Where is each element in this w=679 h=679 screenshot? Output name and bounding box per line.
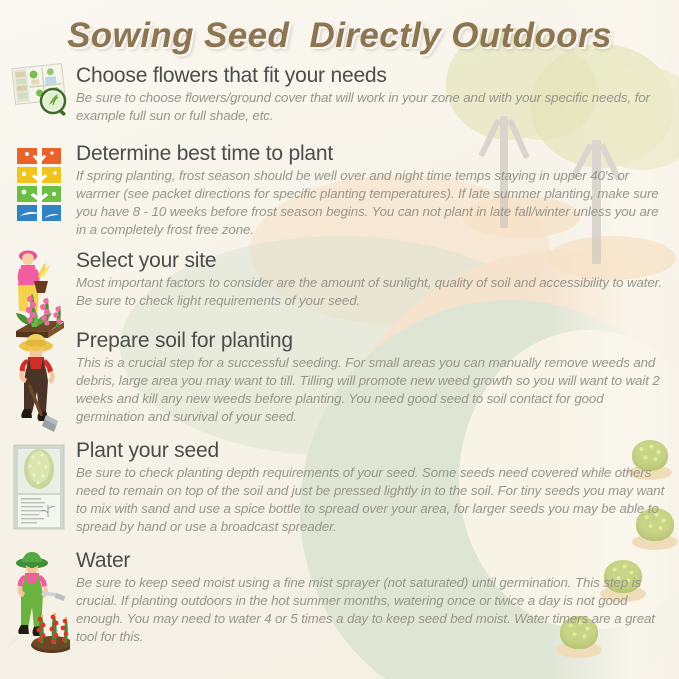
step-item: Water Be sure to keep seed moist using a… [0, 547, 679, 657]
step-item: Choose flowers that fit your needs Be su… [0, 62, 679, 140]
garden-plan-map-icon [8, 62, 70, 120]
step-text: Be sure to check planting depth requirem… [76, 464, 669, 536]
step-title: Select your site [76, 249, 669, 273]
farmer-digging-with-shovel-icon [8, 327, 70, 435]
step-text: Be sure to keep seed moist using a fine … [76, 574, 669, 646]
infographic-poster: Sowing Seed Directly Outdoors [0, 0, 679, 679]
step-item: Prepare soil for planting This is a cruc… [0, 327, 679, 437]
step-content: Water Be sure to keep seed moist using a… [76, 547, 669, 646]
step-content: Prepare soil for planting This is a cruc… [76, 327, 669, 426]
step-content: Plant your seed Be sure to check plantin… [76, 437, 669, 536]
step-title: Water [76, 549, 669, 573]
step-item: Determine best time to plant If spring p… [0, 140, 679, 247]
step-text: Most important factors to consider are t… [76, 274, 669, 310]
step-content: Determine best time to plant If spring p… [76, 140, 669, 239]
step-title: Determine best time to plant [76, 142, 669, 166]
seed-packet-icon [8, 437, 70, 539]
four-seasons-bars-icon [8, 140, 70, 224]
step-content: Select your site Most important factors … [76, 247, 669, 310]
step-text: Be sure to choose flowers/ground cover t… [76, 89, 669, 125]
gardener-watering-icon [8, 547, 70, 655]
page-title: Sowing Seed Directly Outdoors [0, 16, 679, 56]
step-item: Plant your seed Be sure to check plantin… [0, 437, 679, 547]
step-text: This is a crucial step for a successful … [76, 354, 669, 426]
step-title: Plant your seed [76, 439, 669, 463]
step-text: If spring planting, frost season should … [76, 167, 669, 239]
step-title: Prepare soil for planting [76, 329, 669, 353]
step-title: Choose flowers that fit your needs [76, 64, 669, 88]
step-item: Select your site Most important factors … [0, 247, 679, 327]
step-content: Choose flowers that fit your needs Be su… [76, 62, 669, 125]
steps-list: Choose flowers that fit your needs Be su… [0, 62, 679, 657]
